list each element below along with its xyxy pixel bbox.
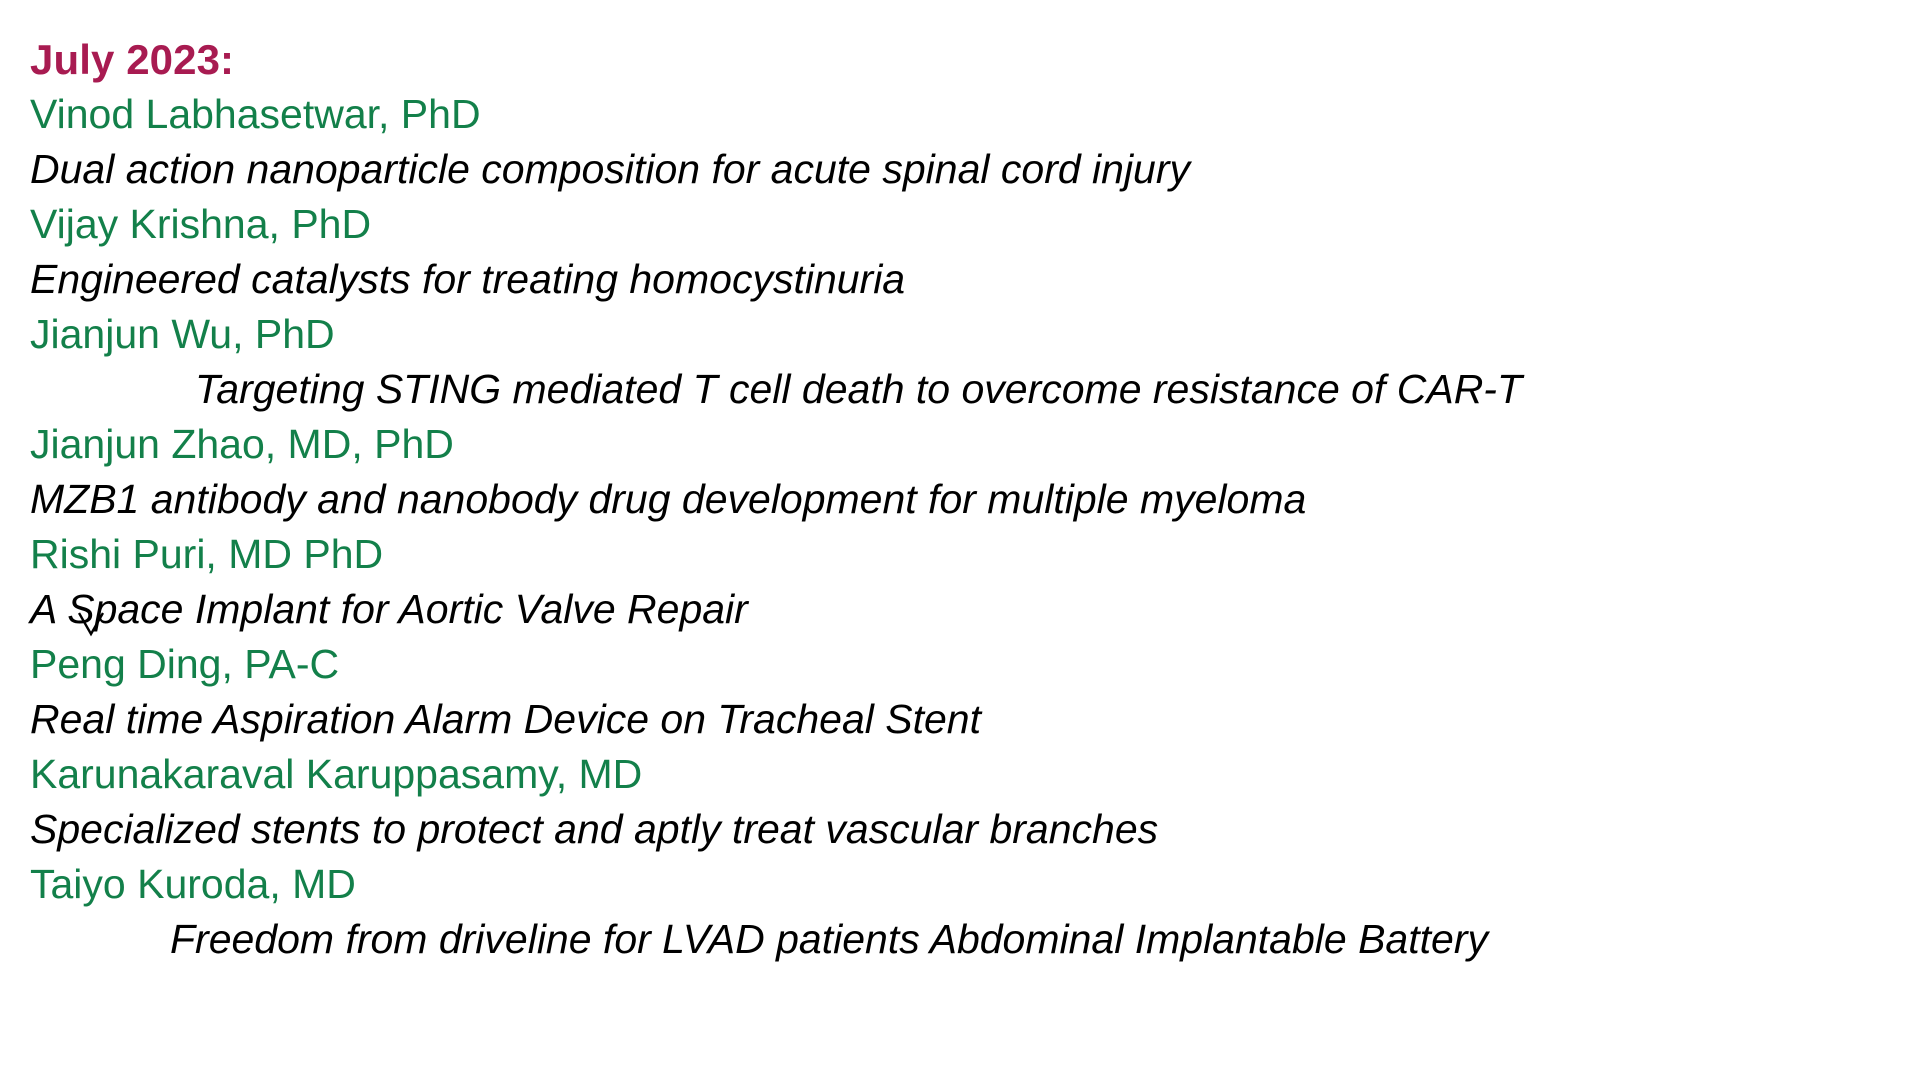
project-title: Real time Aspiration Alarm Device on Tra… (30, 692, 1900, 747)
list-item: Vinod Labhasetwar, PhD Dual action nanop… (30, 87, 1900, 197)
list-item: Peng Ding, PA-C Real time Aspiration Ala… (30, 637, 1900, 747)
project-title: A Space Implant for Aortic Valve Repair (30, 582, 1900, 637)
investigator-name: Vijay Krishna, PhD (30, 197, 1900, 252)
project-title: Engineered catalysts for treating homocy… (30, 252, 1900, 307)
project-title: MZB1 antibody and nanobody drug developm… (30, 472, 1900, 527)
investigator-name: Rishi Puri, MD PhD (30, 527, 1900, 582)
slide-canvas: July 2023: Vinod Labhasetwar, PhD Dual a… (0, 0, 1920, 1080)
project-title: Specialized stents to protect and aptly … (30, 802, 1900, 857)
project-title: Freedom from driveline for LVAD patients… (30, 912, 1900, 967)
list-item: Rishi Puri, MD PhD A Space Implant for A… (30, 527, 1900, 637)
list-item: Jianjun Wu, PhD Targeting STING mediated… (30, 307, 1900, 417)
investigator-name: Jianjun Wu, PhD (30, 307, 1900, 362)
page-title: July 2023: (30, 32, 1900, 87)
investigator-name: Peng Ding, PA-C (30, 637, 1900, 692)
investigator-name: Vinod Labhasetwar, PhD (30, 87, 1900, 142)
list-item: Taiyo Kuroda, MD Freedom from driveline … (30, 857, 1900, 967)
list-item: Karunakaraval Karuppasamy, MD Specialize… (30, 747, 1900, 857)
list-item: Vijay Krishna, PhD Engineered catalysts … (30, 197, 1900, 307)
investigator-name: Taiyo Kuroda, MD (30, 857, 1900, 912)
project-title: Dual action nanoparticle composition for… (30, 142, 1900, 197)
project-title: Targeting STING mediated T cell death to… (30, 362, 1900, 417)
slide-content: July 2023: Vinod Labhasetwar, PhD Dual a… (30, 32, 1900, 966)
list-item: Jianjun Zhao, MD, PhD MZB1 antibody and … (30, 417, 1900, 527)
investigator-name: Karunakaraval Karuppasamy, MD (30, 747, 1900, 802)
investigator-name: Jianjun Zhao, MD, PhD (30, 417, 1900, 472)
